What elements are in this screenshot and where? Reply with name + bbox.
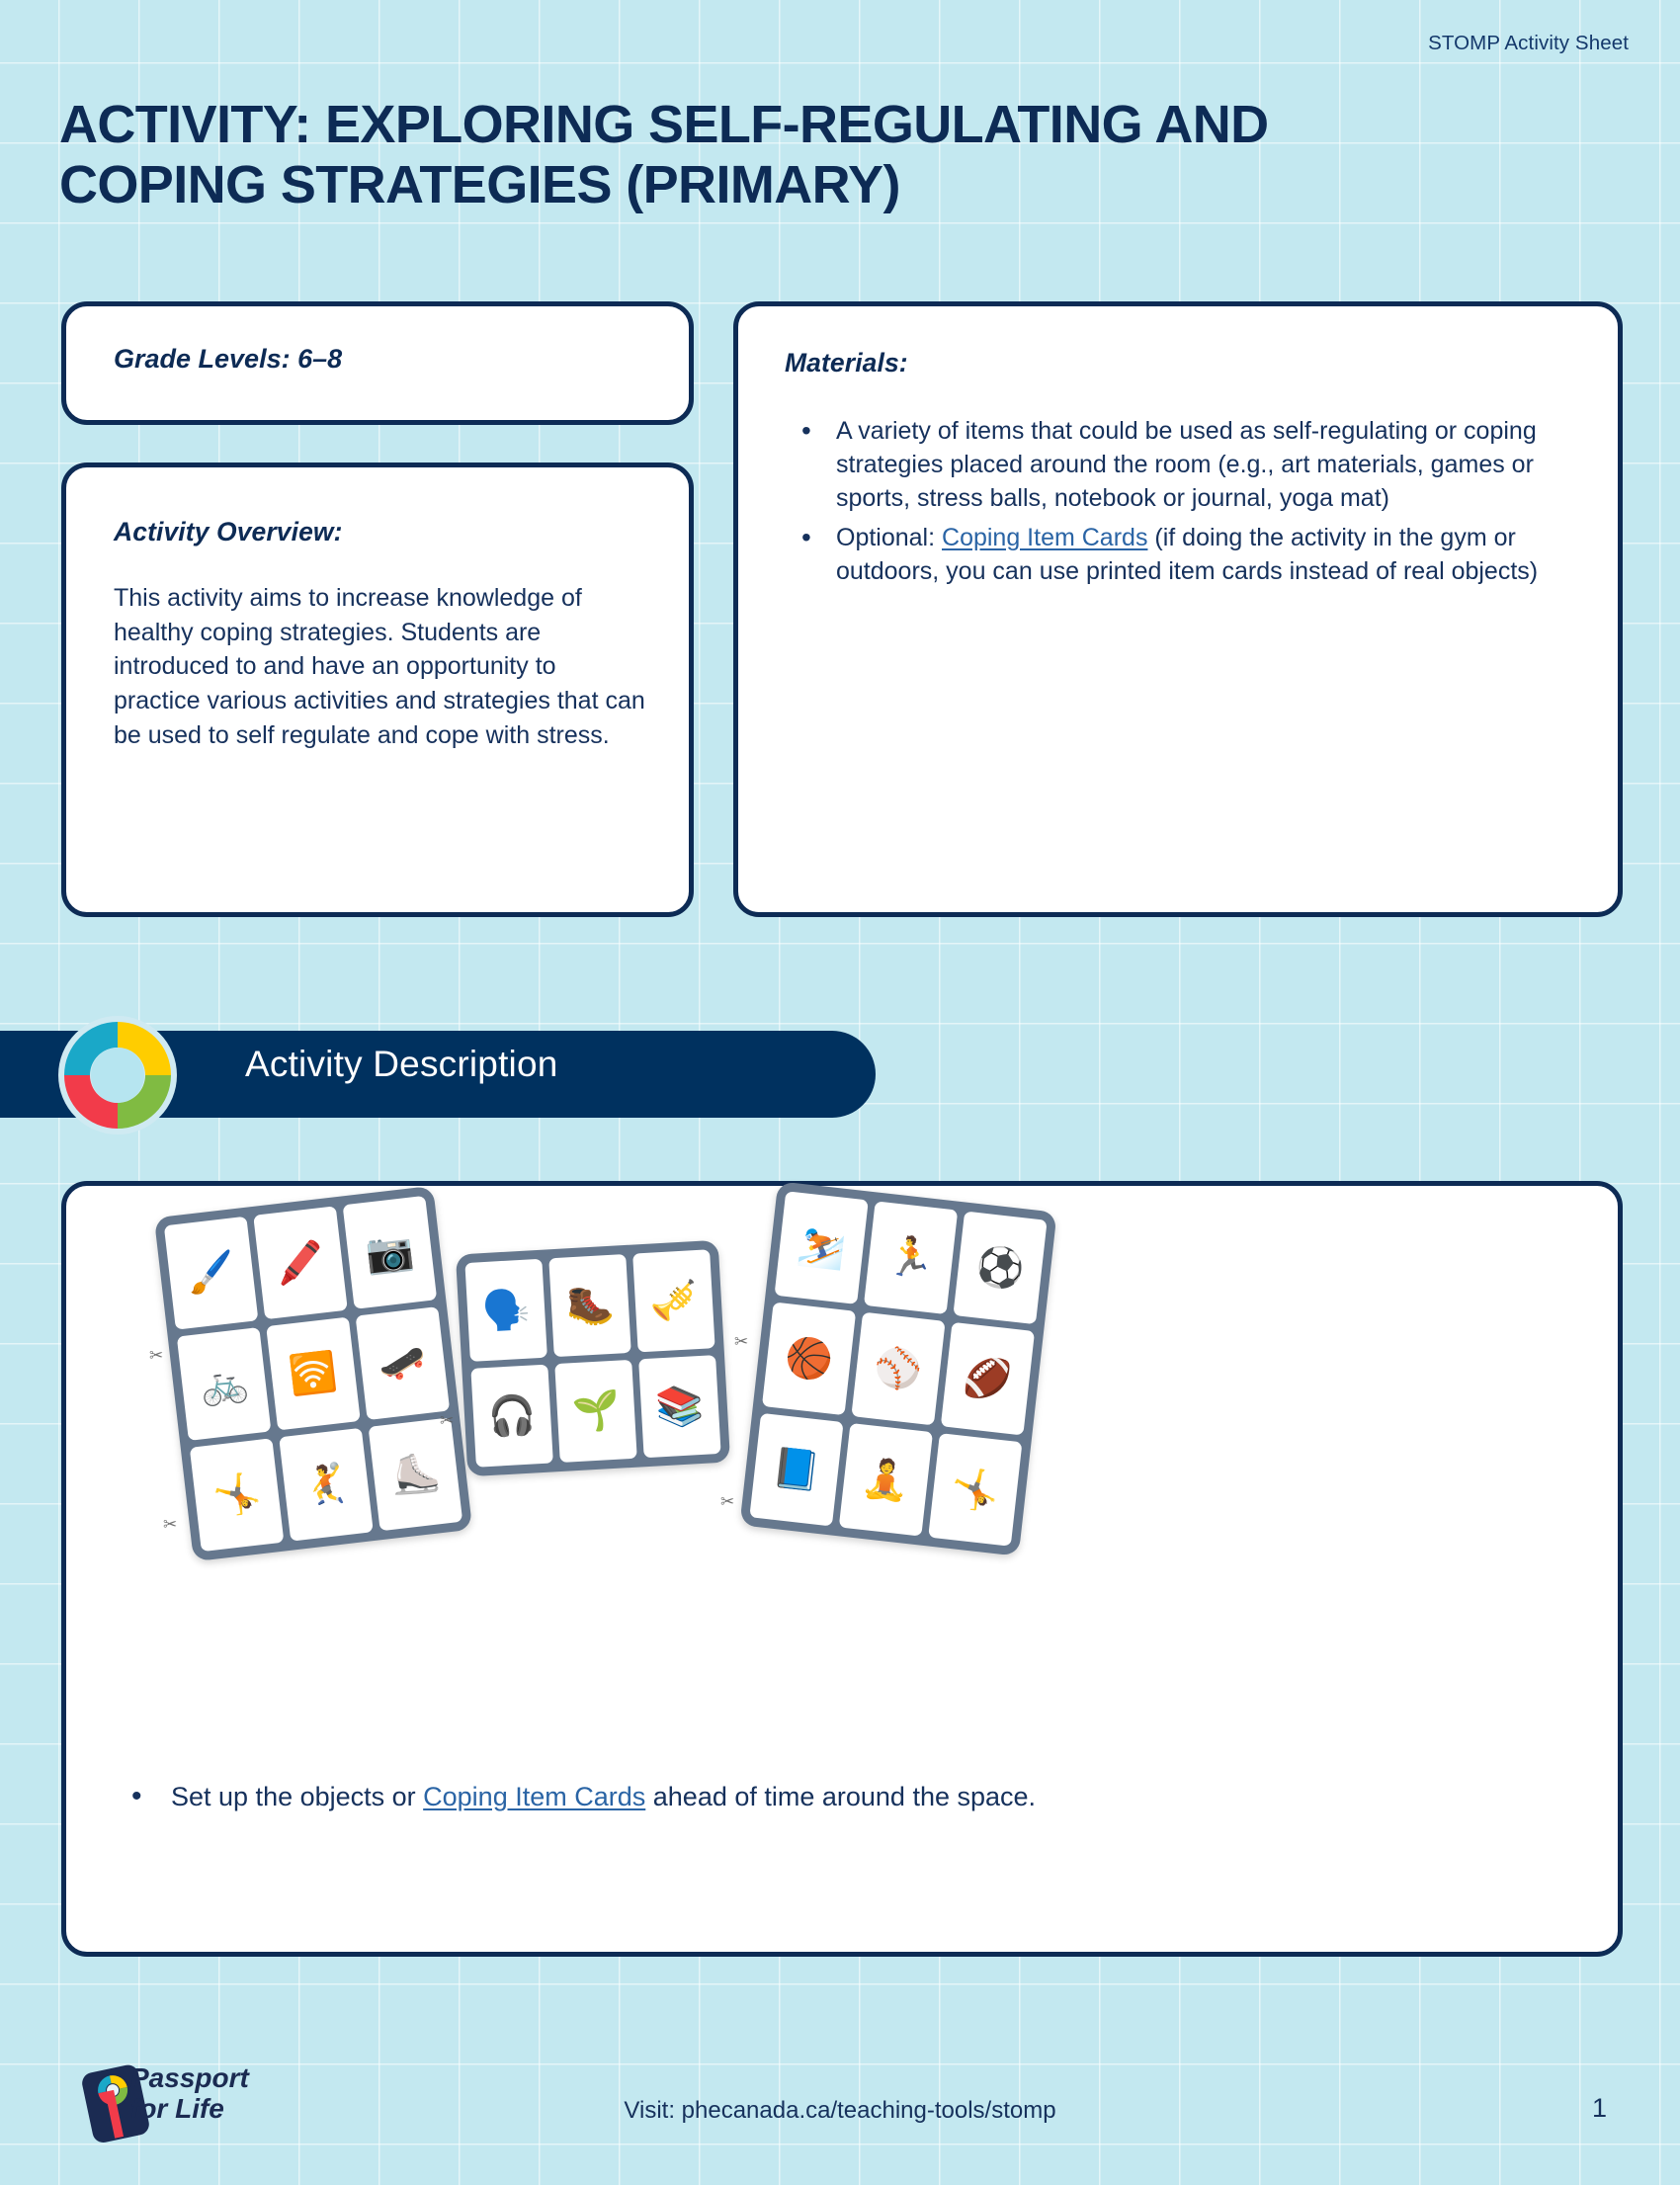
skateboarding-card: 🛹	[356, 1306, 451, 1420]
materials-heading: Materials:	[785, 348, 1576, 378]
skiing-card: ⛷️	[775, 1191, 869, 1304]
ice-skating-card: ⛸️	[369, 1417, 463, 1531]
bullet-text-before: A variety of items that could be used as…	[836, 417, 1537, 512]
talking-to-friend-card: 🗣️	[464, 1259, 546, 1362]
skipping-rope-card: 🤾	[279, 1428, 374, 1542]
grade-levels-label: Grade Levels: 6–8	[114, 344, 689, 375]
activity-description-banner-title: Activity Description	[245, 1044, 558, 1085]
scissors-icon: ✂	[163, 1515, 177, 1535]
soccer-card: ⚽	[953, 1211, 1047, 1324]
gardening-card: 🌱	[554, 1360, 636, 1463]
scissors-icon: ✂	[734, 1332, 748, 1352]
page-number: 1	[1592, 2093, 1607, 2124]
bullet-text-before: Optional:	[836, 524, 942, 551]
right-card-cluster: ⛷️ 🏃 ⚽ 🏀 ⚾ 🏈 📘 🧘 🤸	[739, 1181, 1056, 1555]
music-instruments-card: 🎺	[632, 1249, 714, 1352]
sheet-label: STOMP Activity Sheet	[1428, 32, 1629, 55]
colouring-card: 🖍️	[253, 1206, 348, 1319]
materials-bullet-list: A variety of items that could be used as…	[785, 414, 1576, 588]
bullet-text-after: ahead of time around the space.	[645, 1782, 1036, 1811]
listening-to-music-card: 🎧	[470, 1365, 552, 1468]
bullet-text-before: Set up the objects or	[171, 1782, 423, 1811]
grade-levels-card-inner: Grade Levels: 6–8	[66, 306, 689, 375]
activity-description-card: 🖌️ 🖍️ 📷 🚲 🛜 🛹 🤸 🤾 ⛸️ 🗣️ 🥾 🎺 🎧 🌱 📚 ⛷️ 🏃 ⚽…	[61, 1181, 1623, 1957]
cycling-card: 🚲	[177, 1327, 272, 1441]
scissors-icon: ✂	[440, 1411, 454, 1431]
materials-card-inner: Materials: A variety of items that could…	[738, 306, 1618, 588]
hiking-card: 🥾	[548, 1254, 630, 1357]
list-item: Set up the objects or Coping Item Cards …	[114, 1779, 1556, 1816]
football-card: 🏈	[941, 1322, 1035, 1436]
left-card-cluster: 🖌️ 🖍️ 📷 🚲 🛜 🛹 🤸 🤾 ⛸️	[154, 1186, 472, 1561]
middle-card-cluster: 🗣️ 🥾 🎺 🎧 🌱 📚	[456, 1240, 730, 1476]
grade-levels-card: Grade Levels: 6–8	[61, 301, 694, 425]
activity-overview-card-inner: Activity Overview: This activity aims to…	[66, 467, 689, 752]
scissors-icon: ✂	[149, 1346, 163, 1366]
coping-item-cards-link[interactable]: Coping Item Cards	[942, 524, 1147, 551]
logo-line-1: Passport	[130, 2063, 249, 2094]
description-bullet-list: Set up the objects or Coping Item Cards …	[114, 1779, 1556, 1816]
reading-card: 📚	[638, 1355, 720, 1458]
activity-overview-heading: Activity Overview:	[114, 517, 645, 547]
baseball-card: ⚾	[851, 1312, 945, 1426]
running-card: 🏃	[864, 1201, 958, 1314]
list-item: Optional: Coping Item Cards (if doing th…	[785, 521, 1576, 588]
coping-item-cards-figure: 🖌️ 🖍️ 📷 🚲 🛜 🛹 🤸 🤾 ⛸️ 🗣️ 🥾 🎺 🎧 🌱 📚 ⛷️ 🏃 ⚽…	[66, 1186, 1618, 1724]
meditation-card: 🧘	[839, 1423, 933, 1537]
scissors-icon: ✂	[720, 1492, 734, 1512]
paintbrushes-card: 🖌️	[164, 1217, 259, 1330]
activity-overview-body: This activity aims to increase knowledge…	[114, 581, 645, 752]
journaling-card: 📘	[749, 1413, 843, 1527]
stretching-card: 🤸	[928, 1433, 1022, 1547]
footer-url: Visit: phecanada.ca/teaching-tools/stomp	[0, 2097, 1680, 2125]
stomp-ring-logo-icon	[56, 1014, 179, 1136]
list-item: A variety of items that could be used as…	[785, 414, 1576, 515]
page-title: ACTIVITY: EXPLORING SELF-REGULATING AND …	[59, 95, 1463, 215]
roller-skating-card: 🛜	[266, 1317, 361, 1431]
gymnastics-ribbon-card: 🤸	[190, 1438, 285, 1552]
basketball-card: 🏀	[762, 1303, 856, 1416]
materials-card: Materials: A variety of items that could…	[733, 301, 1623, 917]
photography-card: 📷	[343, 1196, 438, 1309]
coping-item-cards-link[interactable]: Coping Item Cards	[423, 1782, 645, 1811]
activity-overview-card: Activity Overview: This activity aims to…	[61, 462, 694, 917]
